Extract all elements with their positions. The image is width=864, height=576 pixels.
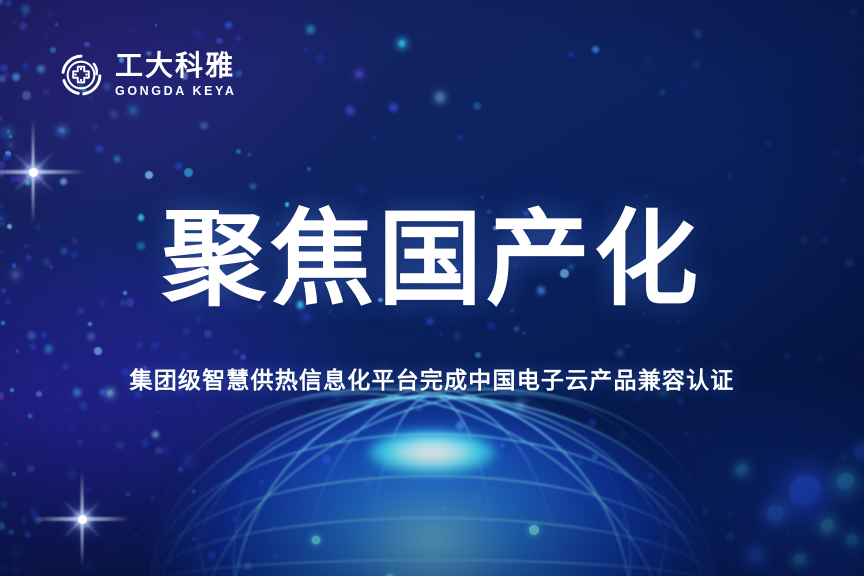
promo-banner: 工大科雅 GONGDA KEYA 聚焦国产化 集团级智慧供热信息化平台完成中国电…: [0, 0, 864, 576]
brand-logo[interactable]: 工大科雅 GONGDA KEYA: [58, 52, 236, 98]
sparkle-left-lower-icon: [34, 471, 130, 567]
brand-text: 工大科雅 GONGDA KEYA: [115, 52, 236, 98]
page-subtitle: 集团级智慧供热信息化平台完成中国电子云产品兼容认证: [0, 361, 864, 395]
circular-swirl-cross-logo-icon: [58, 52, 104, 98]
page-title: 聚焦国产化: [0, 206, 864, 312]
brand-name-cn: 工大科雅: [115, 52, 236, 80]
brand-name-en: GONGDA KEYA: [115, 85, 236, 98]
